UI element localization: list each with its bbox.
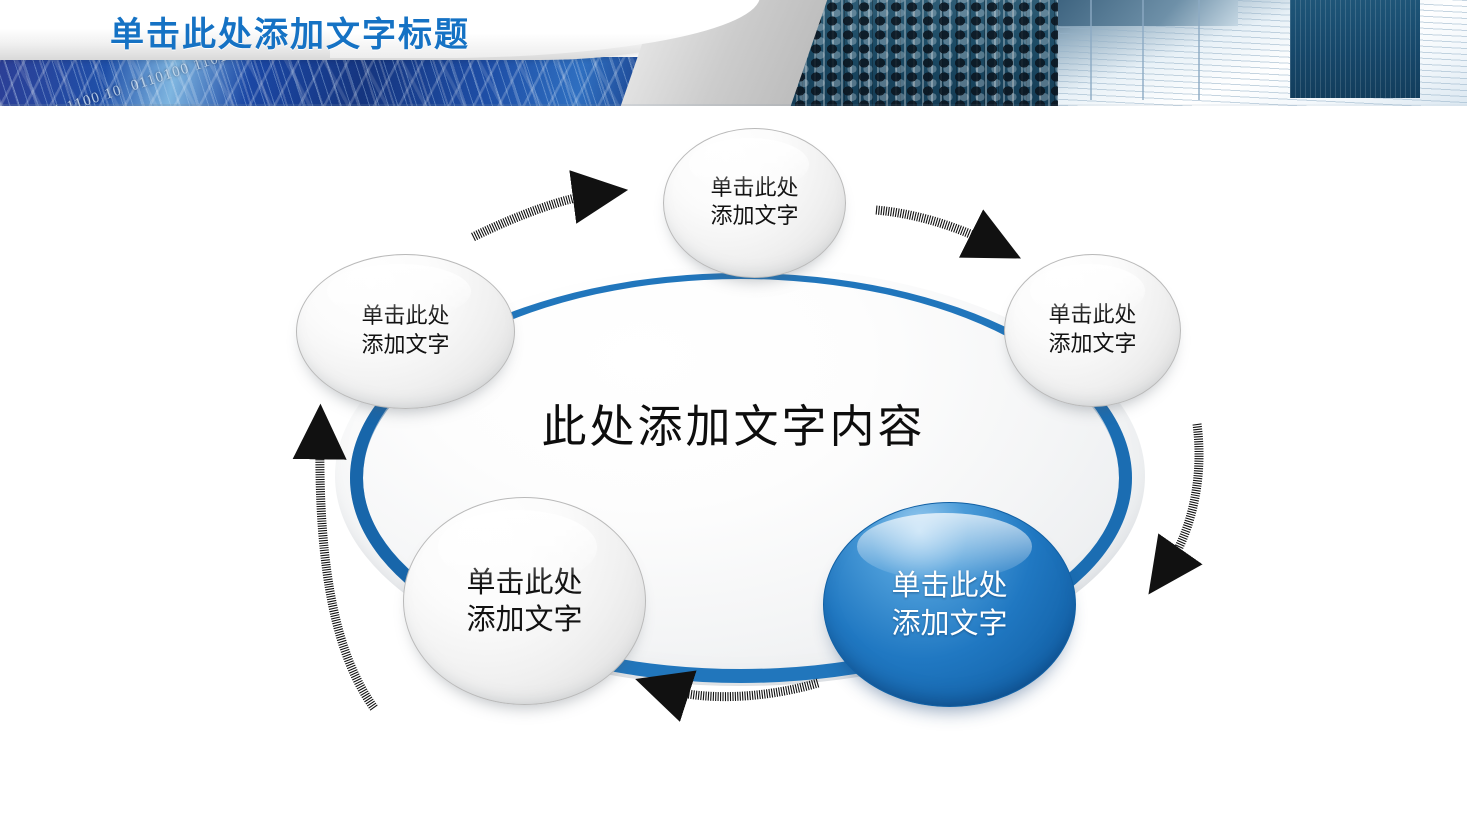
node-label-line2: 添加文字 (466, 601, 582, 638)
node-label-line1: 单击此处 (710, 175, 798, 203)
blind-frame-divider (1198, 0, 1200, 100)
node-label-line2: 添加文字 (710, 203, 798, 231)
cycle-node-right[interactable]: 单击此处 添加文字 (1004, 254, 1181, 407)
arrow-left-to-top (473, 194, 596, 237)
cycle-node-bottom-left[interactable]: 单击此处 添加文字 (403, 497, 646, 705)
node-label-line1: 单击此处 (466, 564, 582, 601)
blind-frame-divider (1090, 0, 1092, 100)
node-label-line2: 添加文字 (361, 332, 449, 360)
cycle-node-top[interactable]: 单击此处 添加文字 (663, 128, 846, 278)
blind-frame-divider (1142, 0, 1144, 100)
center-label: 此处添加文字内容 (0, 390, 1467, 455)
slide-canvas: 1001 0110 11 0101 1100 10 0110100 1101 1… (0, 0, 1467, 819)
blinds-dark-panel (1290, 0, 1420, 98)
cycle-node-bottom-right-highlighted[interactable]: 单击此处 添加文字 (823, 502, 1076, 707)
blinds-top-shadow (1058, 0, 1238, 26)
cycle-node-left[interactable]: 单击此处 添加文字 (296, 254, 515, 409)
cycle-diagram: 此处添加文字内容 单击此处 添加文字 单击此处 添加文字 (0, 106, 1467, 819)
node-label-line2: 添加文字 (1048, 331, 1136, 359)
page-title: 单击此处添加文字标题 (110, 7, 470, 56)
node-label-line1: 单击此处 (1048, 302, 1136, 330)
node-label-line1: 单击此处 (891, 567, 1007, 604)
arrow-top-to-right (876, 210, 992, 244)
node-label-line1: 单击此处 (361, 303, 449, 331)
node-label-line2: 添加文字 (891, 605, 1007, 642)
